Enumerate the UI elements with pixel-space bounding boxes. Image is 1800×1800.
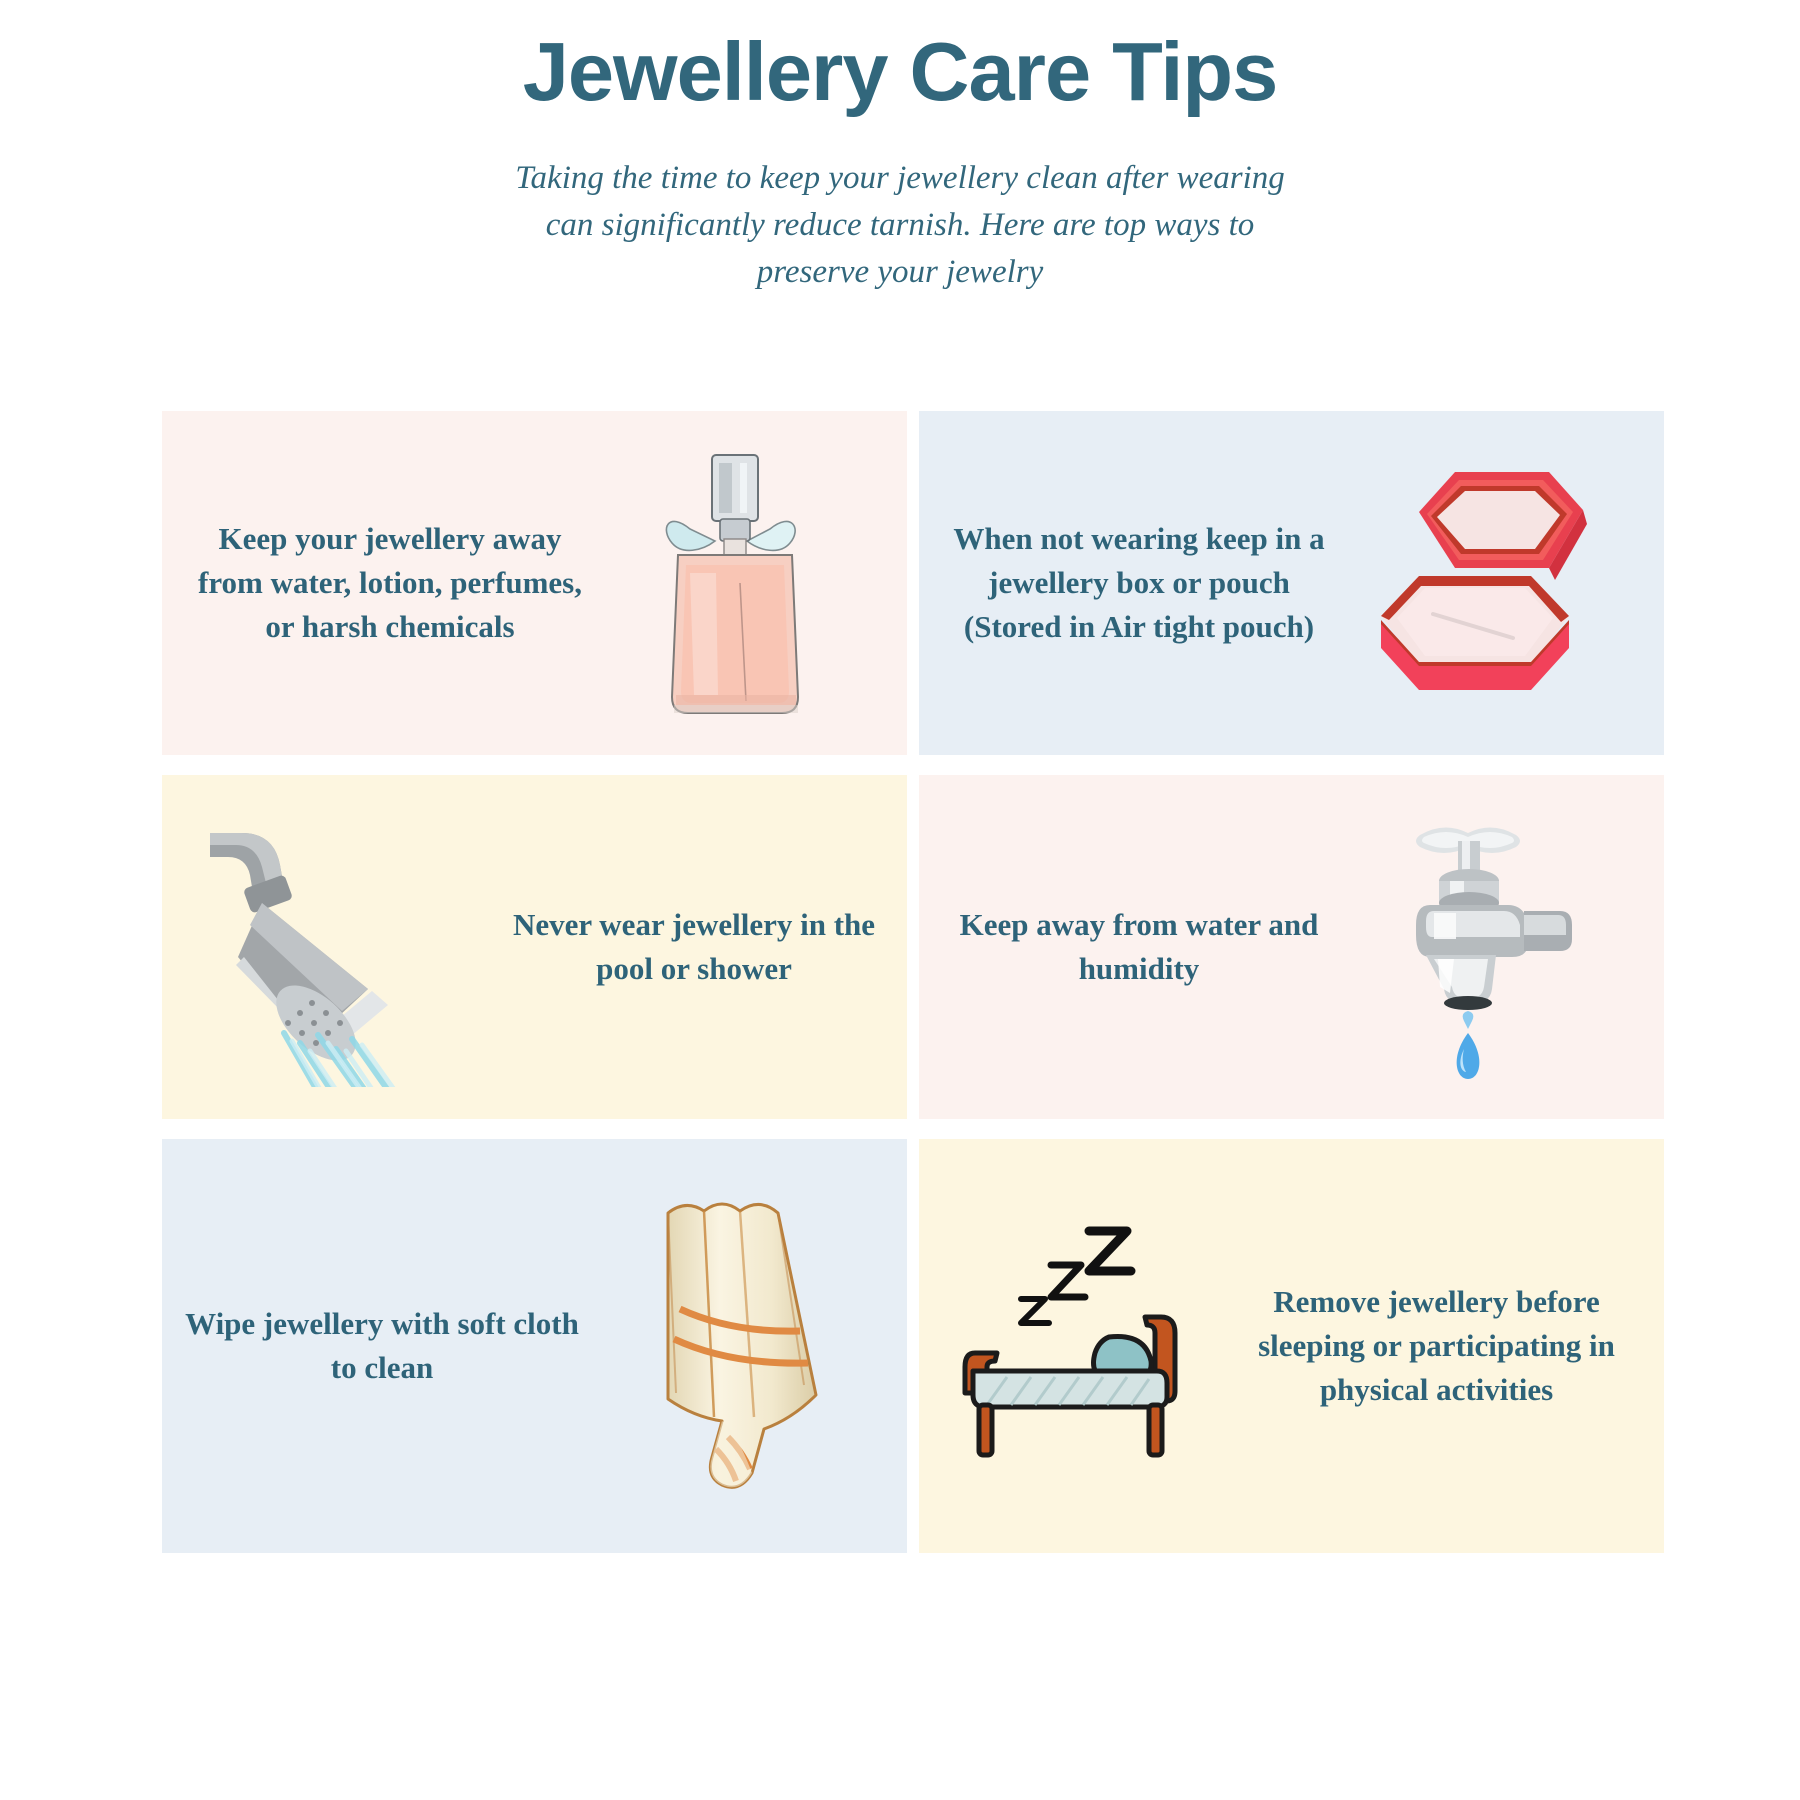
tip-card-3-text: Never wear jewellery in the pool or show… [502,903,902,991]
tip-card-2[interactable]: When not wearing keep in a jewellery box… [919,411,1664,755]
perfume-bottle-icon [592,433,897,733]
bed-sleeping-icon [919,1221,1249,1471]
header: Jewellery Care Tips Taking the time to k… [0,0,1800,296]
shower-head-icon [162,807,502,1087]
tip-card-6[interactable]: Remove jewellery before sleeping or part… [919,1139,1664,1553]
tip-card-5[interactable]: Wipe jewellery with soft cloth to clean [162,1139,907,1553]
ring-box-icon [1339,458,1654,708]
tips-grid: Keep your jewellery away from water, lot… [162,411,1640,1553]
tip-card-5-text: Wipe jewellery with soft cloth to clean [162,1302,582,1390]
page-subtitle: Taking the time to keep your jewellery c… [505,155,1295,296]
tip-card-1-text: Keep your jewellery away from water, lot… [162,517,592,649]
tip-card-1[interactable]: Keep your jewellery away from water, lot… [162,411,907,755]
tip-card-3[interactable]: Never wear jewellery in the pool or show… [162,775,907,1119]
tip-card-4-text: Keep away from water and humidity [919,903,1339,991]
tip-card-2-text: When not wearing keep in a jewellery box… [919,517,1339,649]
page-title: Jewellery Care Tips [0,28,1800,115]
tip-card-4[interactable]: Keep away from water and humidity [919,775,1664,1119]
cleaning-cloth-icon [582,1181,892,1511]
tip-card-6-text: Remove jewellery before sleeping or part… [1249,1280,1644,1412]
infographic-page: Jewellery Care Tips Taking the time to k… [0,0,1800,1800]
faucet-icon [1339,807,1649,1087]
